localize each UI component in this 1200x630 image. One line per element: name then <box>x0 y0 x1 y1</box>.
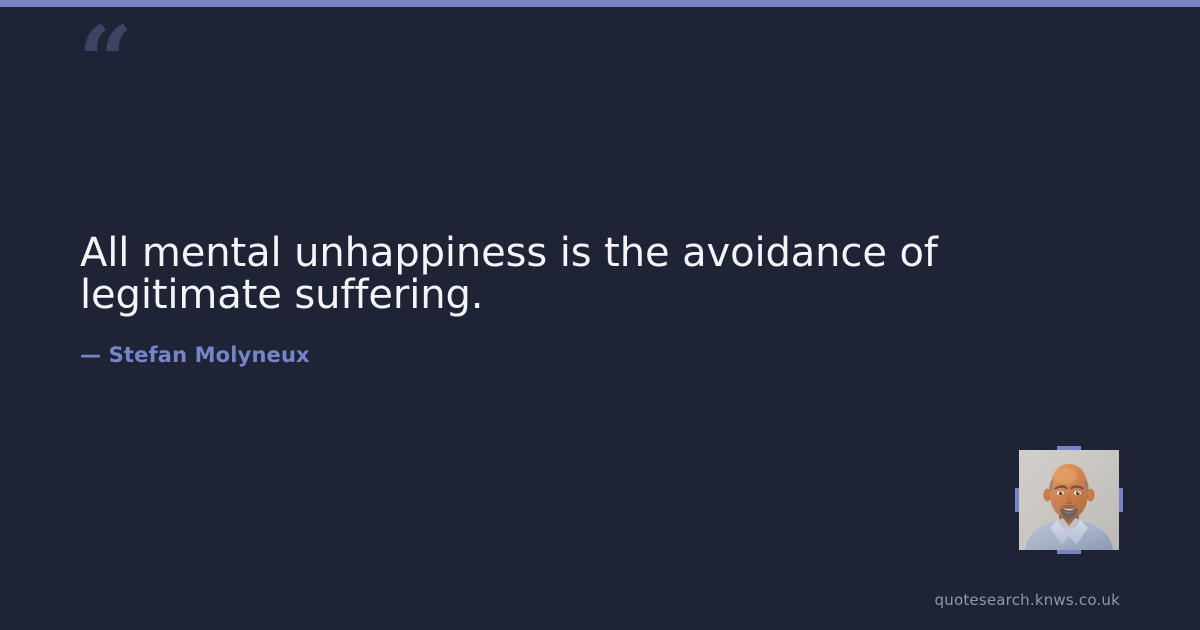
author-photo-illustration <box>1019 450 1119 550</box>
quote-text: All mental unhappiness is the avoidance … <box>80 232 960 317</box>
portrait-accent-tick-bottom <box>1057 550 1081 554</box>
open-quote-icon: “ <box>78 14 131 110</box>
source-url: quotesearch.knws.co.uk <box>935 591 1120 609</box>
quote-block: All mental unhappiness is the avoidance … <box>80 232 960 367</box>
quote-attribution: — Stefan Molyneux <box>80 317 960 367</box>
portrait-accent-tick-top <box>1057 446 1081 450</box>
top-accent-bar <box>0 0 1200 7</box>
portrait-accent-tick-right <box>1119 488 1123 512</box>
author-portrait <box>1019 450 1119 550</box>
portrait-accent-tick-left <box>1015 488 1019 512</box>
author-photo <box>1019 450 1119 550</box>
quote-card: “ All mental unhappiness is the avoidanc… <box>0 0 1200 630</box>
